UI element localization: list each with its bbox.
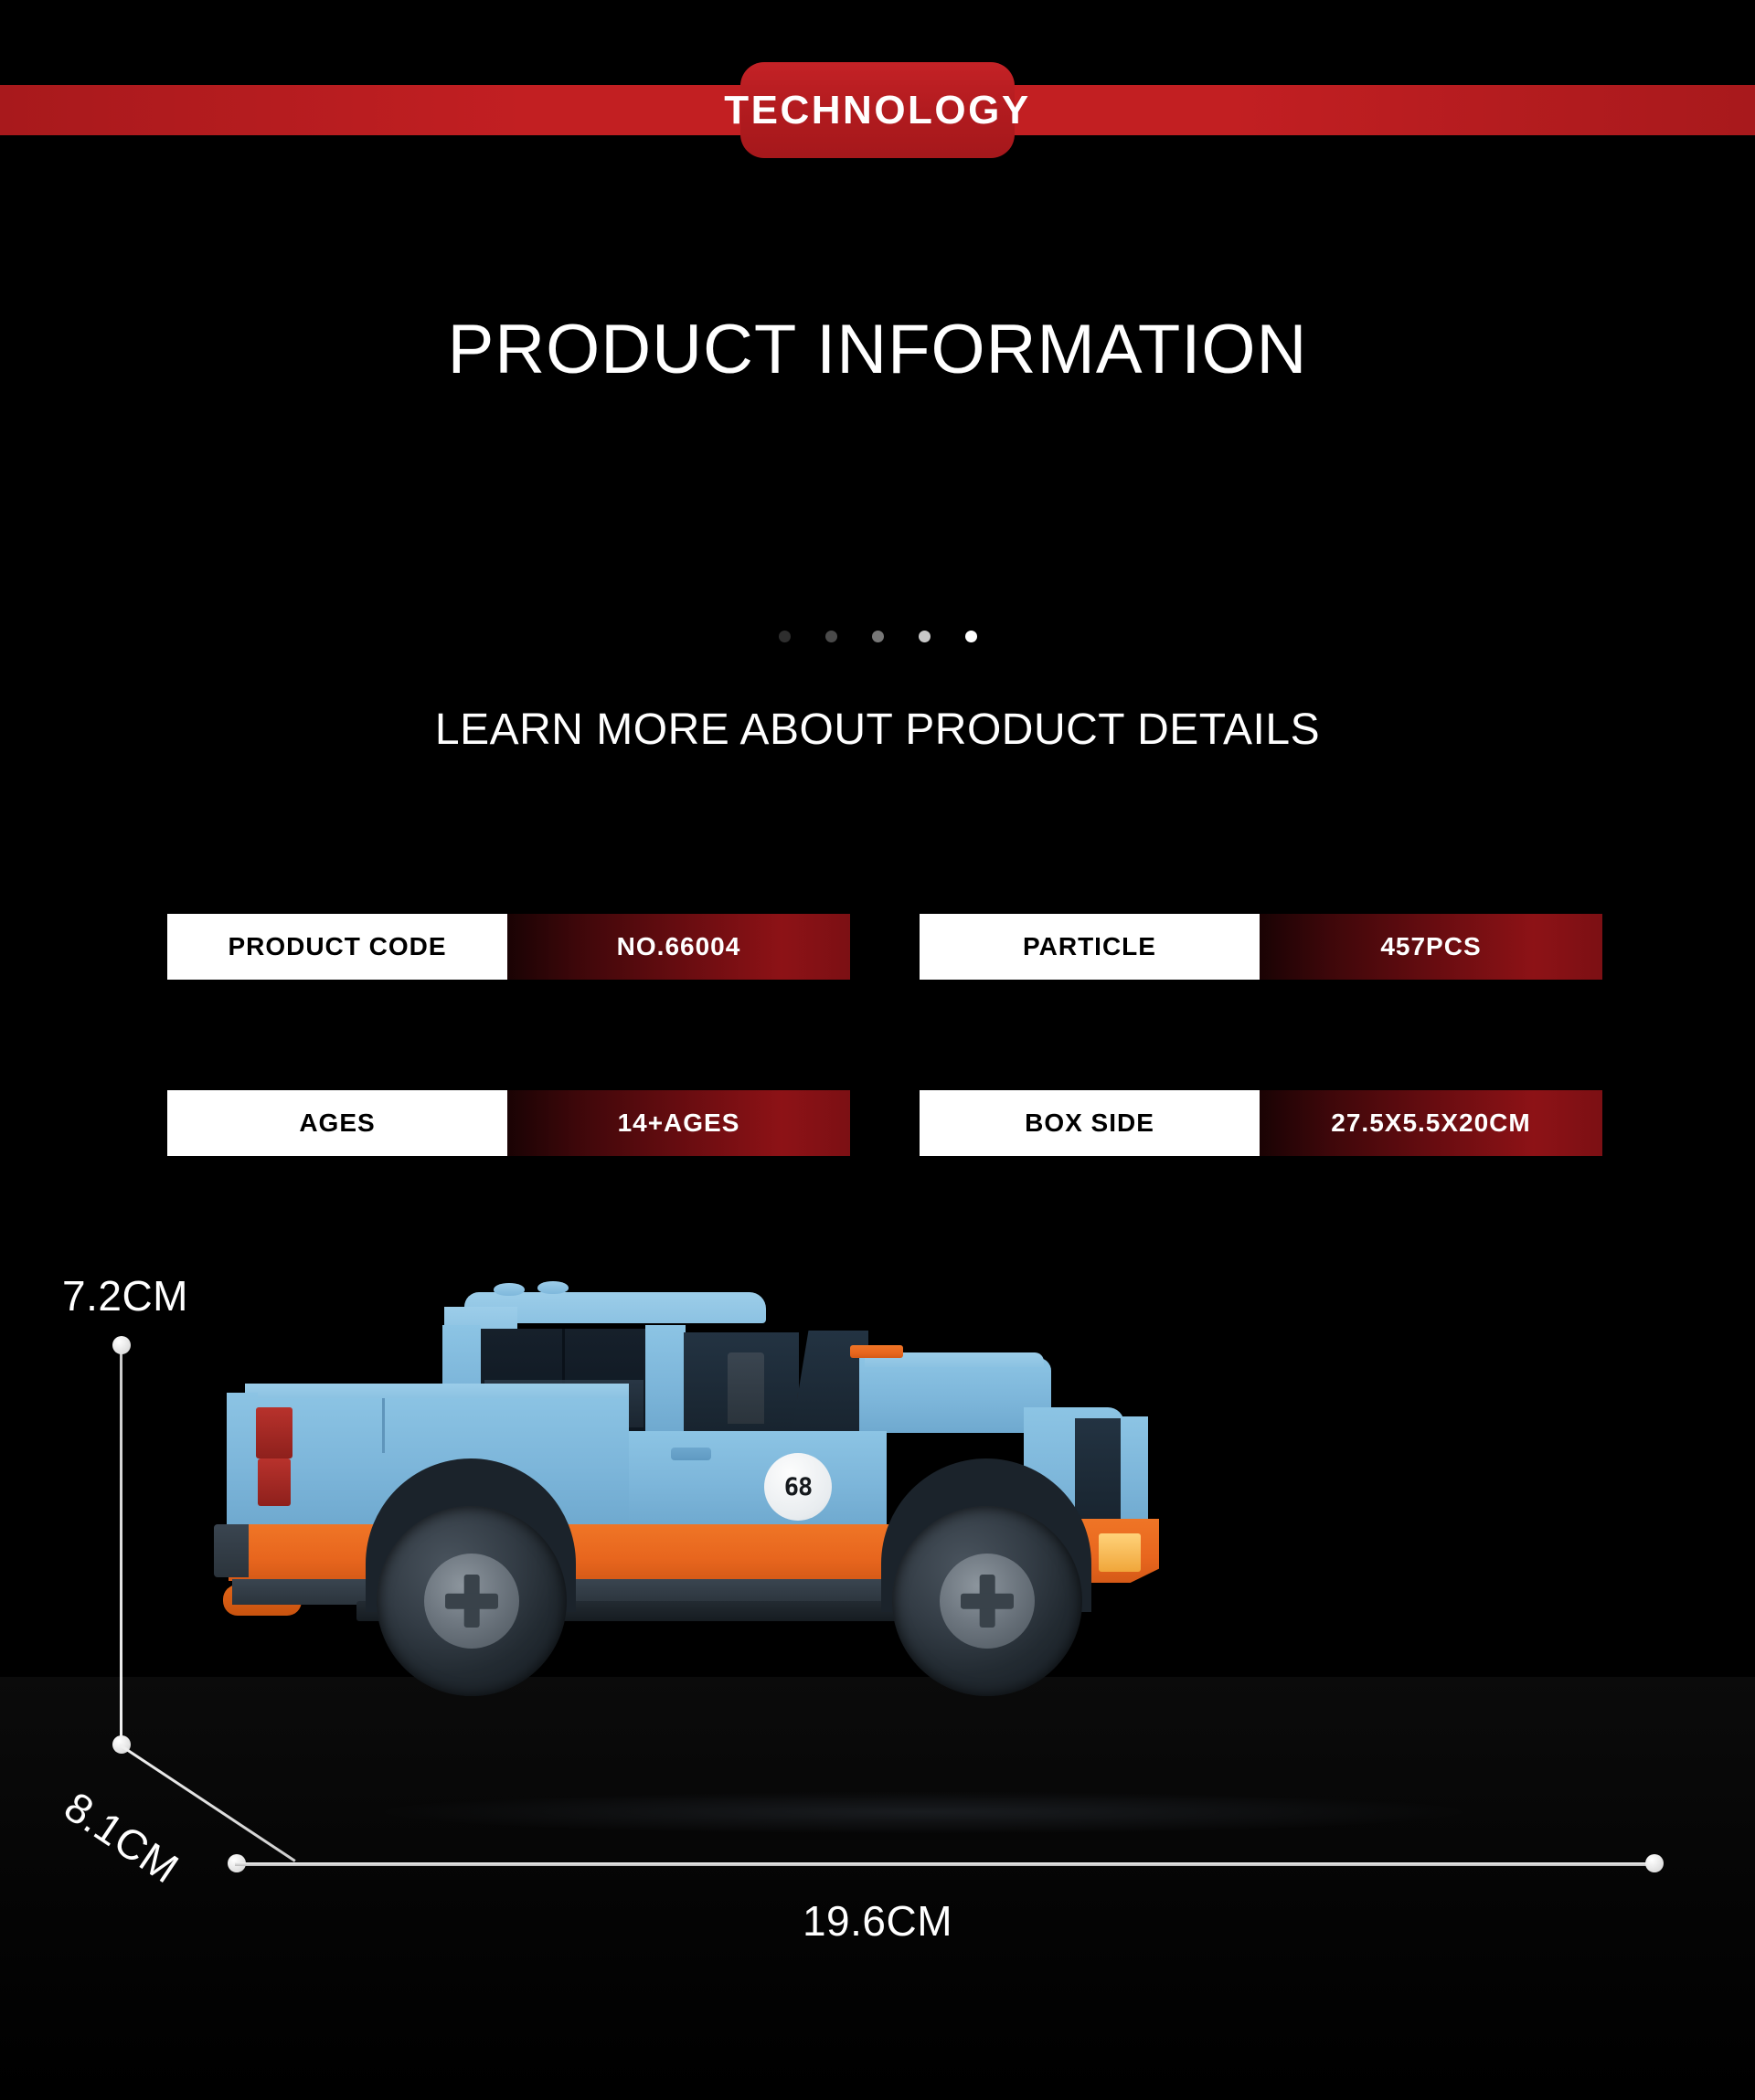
taillight-lower: [258, 1458, 291, 1506]
spec-row-product-code: PRODUCT CODE NO.66004: [167, 914, 850, 980]
spec-value: 27.5X5.5X20CM: [1260, 1090, 1602, 1156]
door-handle: [671, 1448, 711, 1460]
banner-tab: TECHNOLOGY: [740, 62, 1015, 158]
brick-hood: [859, 1358, 1051, 1433]
length-guide-line: [235, 1862, 1654, 1866]
rear-bumper-mount: [214, 1524, 249, 1577]
height-guide-line: [120, 1343, 122, 1745]
seat-back: [728, 1352, 764, 1424]
brick-cab-lower: [612, 1431, 887, 1526]
guide-node-top: [112, 1336, 131, 1354]
guide-node-right: [1645, 1854, 1664, 1872]
spec-value: 457PCS: [1260, 914, 1602, 980]
dot-1: [779, 631, 791, 642]
spec-value: NO.66004: [507, 914, 850, 980]
spec-label: PRODUCT CODE: [167, 914, 507, 980]
product-photo-stage: 7.2CM 8.1CM 19.6CM: [0, 1270, 1755, 2100]
roof-stud-1: [494, 1283, 525, 1296]
page-subtitle: LEARN MORE ABOUT PRODUCT DETAILS: [0, 708, 1755, 752]
brick-b-pillar: [645, 1325, 686, 1433]
dot-5: [965, 631, 977, 642]
dot-separator: [0, 631, 1755, 642]
wheel-hub-rear: [424, 1554, 519, 1649]
dimension-height-label: 7.2CM: [62, 1271, 188, 1320]
truck-shadow: [384, 1791, 1462, 1833]
dimension-length-label: 19.6CM: [0, 1896, 1755, 1946]
brick-front-nose: [1121, 1416, 1148, 1526]
roof-stud-2: [537, 1281, 569, 1294]
wheel-rear: [377, 1506, 567, 1696]
spec-label: AGES: [167, 1090, 507, 1156]
dot-4: [919, 631, 931, 642]
race-number-roundel: 68: [764, 1453, 832, 1521]
spec-label: BOX SIDE: [920, 1090, 1260, 1156]
stripe-orange-bed: [229, 1524, 366, 1581]
brick-tailgate: [227, 1393, 258, 1526]
wheel-hub-front: [940, 1554, 1035, 1649]
spec-row-particle: PARTICLE 457PCS: [920, 914, 1602, 980]
page-title: PRODUCT INFORMATION: [0, 315, 1755, 385]
wheel-front: [892, 1506, 1082, 1696]
brick-hood-accent: [850, 1345, 903, 1358]
spec-label: PARTICLE: [920, 914, 1260, 980]
race-number-text: 68: [784, 1473, 813, 1501]
taillight-upper: [256, 1407, 292, 1458]
spec-value: 14+AGES: [507, 1090, 850, 1156]
spec-table: PRODUCT CODE NO.66004 PARTICLE 457PCS AG…: [167, 914, 1602, 1156]
dot-3: [872, 631, 884, 642]
banner-label: TECHNOLOGY: [724, 90, 1030, 131]
dot-2: [825, 631, 837, 642]
headlight: [1099, 1533, 1141, 1572]
product-image-pickup-truck: 68: [219, 1279, 1572, 1828]
brick-bed-rail: [245, 1384, 629, 1398]
spec-row-ages: AGES 14+AGES: [167, 1090, 850, 1156]
technology-banner: TECHNOLOGY: [0, 0, 1755, 164]
bed-panel-seam: [382, 1398, 385, 1453]
spec-row-box-side: BOX SIDE 27.5X5.5X20CM: [920, 1090, 1602, 1156]
